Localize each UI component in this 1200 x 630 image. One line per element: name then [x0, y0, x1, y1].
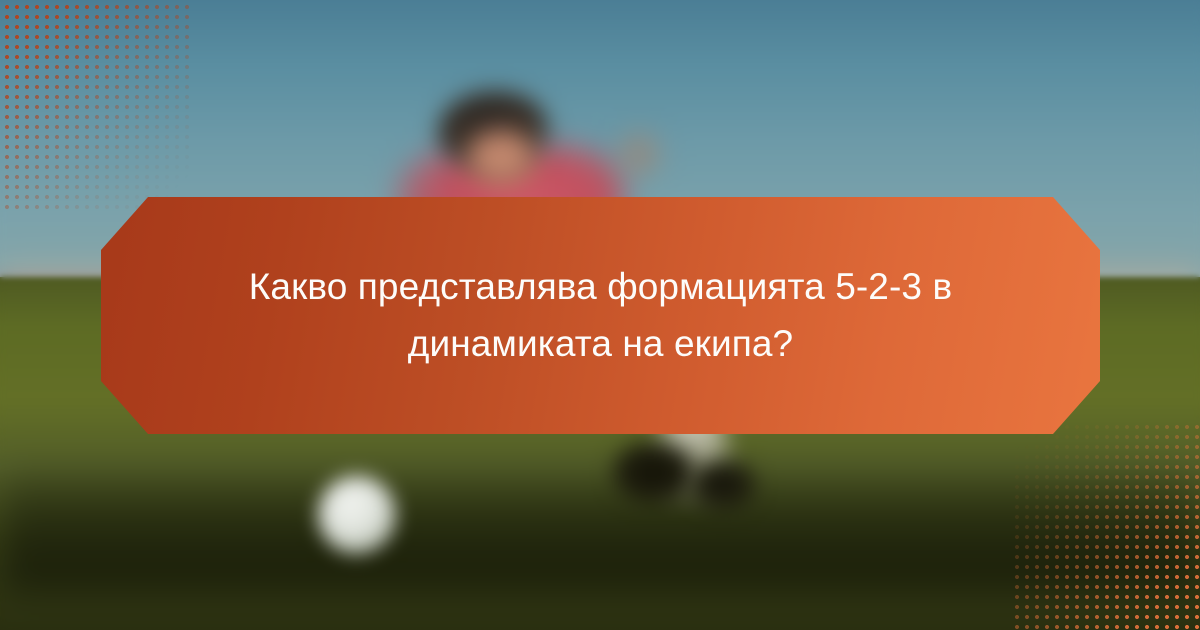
player-boot-right-blur: [690, 460, 756, 510]
field-shadow-band: [0, 454, 1200, 593]
player-arm-blur: [612, 126, 666, 183]
share-card-canvas: Какво представлява формацията 5-2-3 в ди…: [0, 0, 1200, 630]
player-boot-left-blur: [612, 441, 696, 504]
headline-banner: Какво представлява формацията 5-2-3 в ди…: [101, 197, 1100, 434]
page-title: Какво представлява формацията 5-2-3 в ди…: [241, 259, 961, 371]
soccer-ball-blur: [318, 476, 396, 555]
player-face-blur: [462, 126, 540, 189]
